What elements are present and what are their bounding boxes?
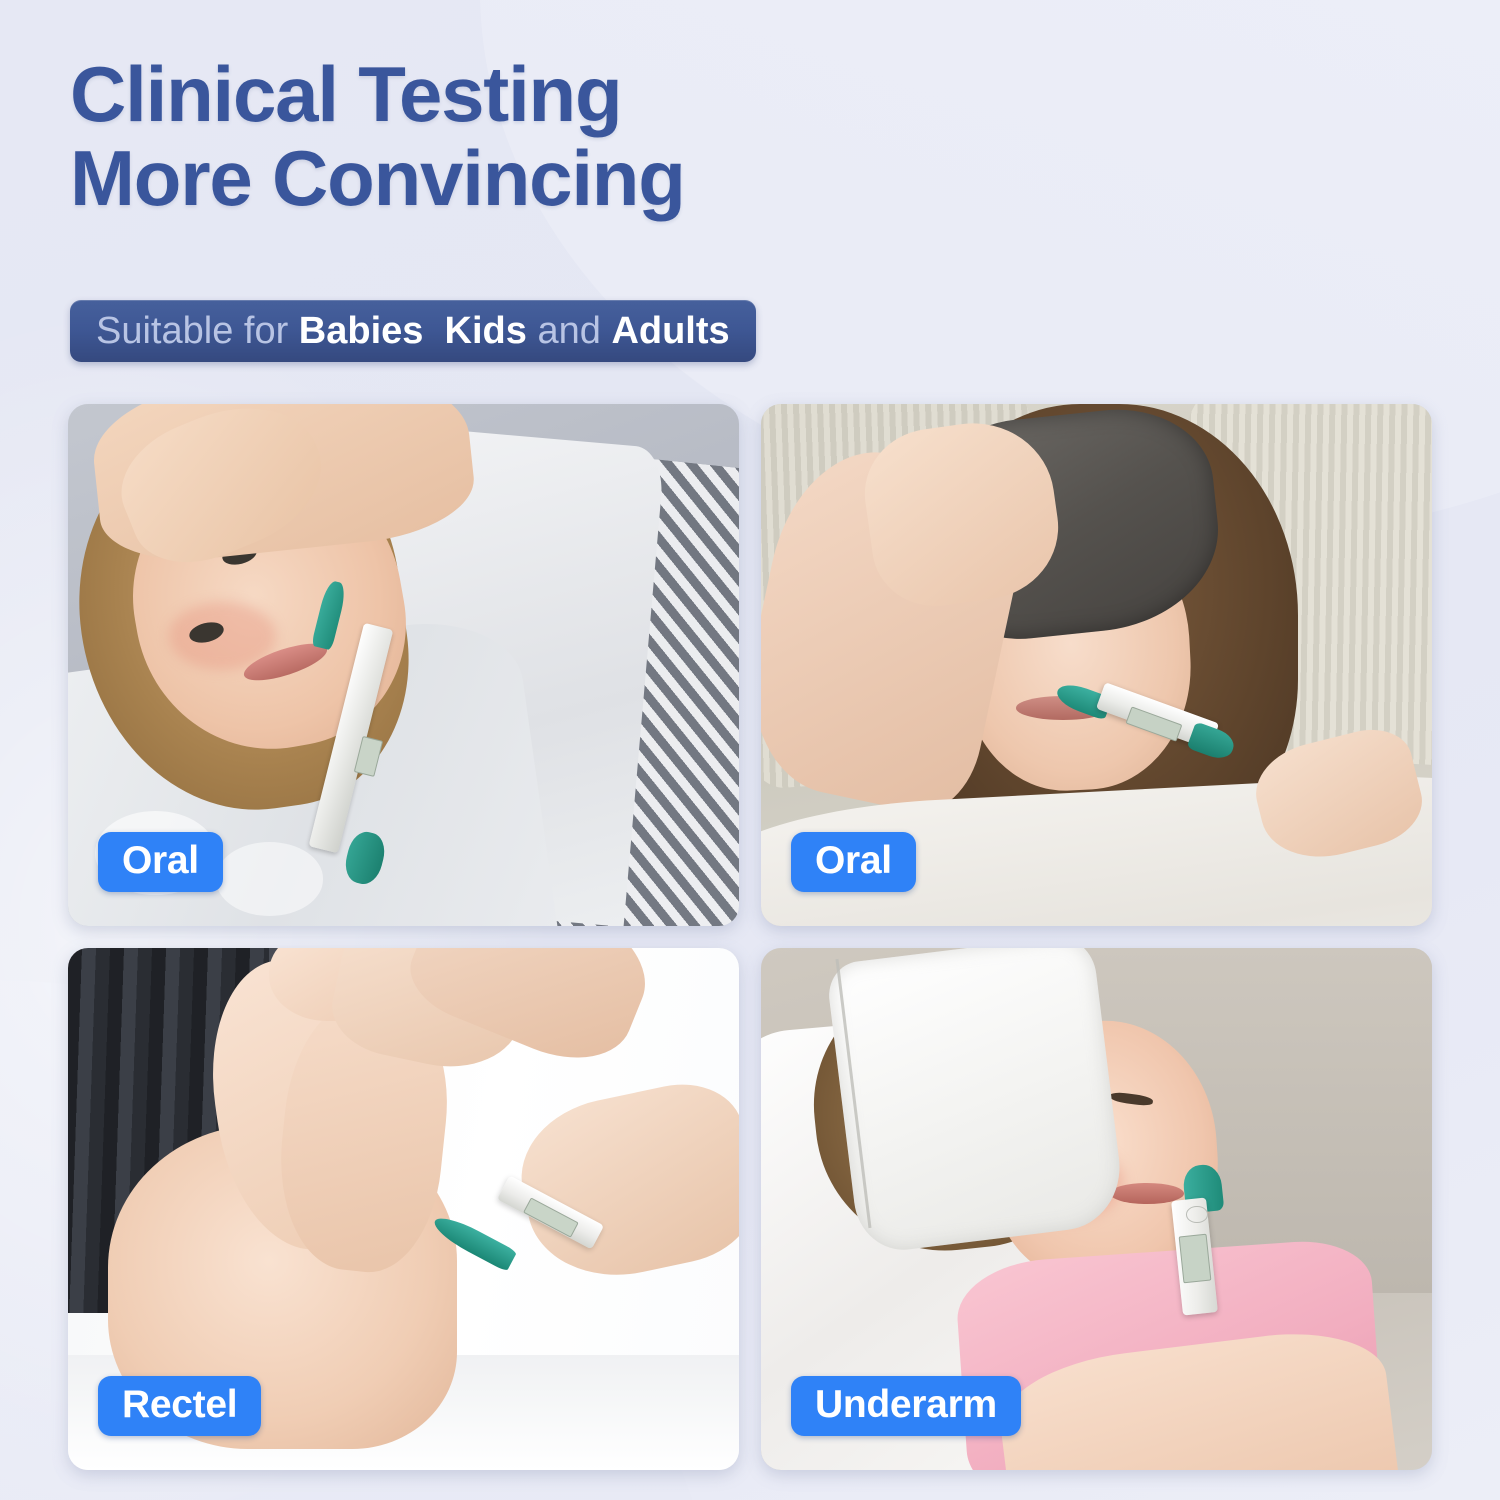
title-line-1: Clinical Testing bbox=[70, 52, 1030, 136]
infographic-poster: Clinical Testing More Convincing Suitabl… bbox=[0, 0, 1500, 1500]
label-pill-underarm: Underarm bbox=[791, 1376, 1021, 1436]
banner-separator bbox=[423, 312, 444, 350]
banner-audience-babies: Babies bbox=[299, 312, 424, 350]
banner-prefix: Suitable for bbox=[96, 312, 299, 350]
card-oral-child[interactable]: Oral bbox=[68, 404, 739, 926]
banner-audience-kids: Kids bbox=[445, 312, 527, 350]
card-underarm-child[interactable]: Underarm bbox=[761, 948, 1432, 1470]
usage-gallery: Oral Oral bbox=[68, 404, 1432, 1470]
banner-conjunction: and bbox=[527, 312, 612, 350]
title-line-2: More Convincing bbox=[70, 136, 1030, 220]
page-title: Clinical Testing More Convincing bbox=[70, 52, 1030, 220]
banner-audience-adults: Adults bbox=[611, 312, 729, 350]
audience-banner: Suitable for Babies Kids and Adults bbox=[70, 300, 756, 362]
label-pill-oral-adult: Oral bbox=[791, 832, 916, 892]
label-pill-rectal: Rectel bbox=[98, 1376, 261, 1436]
label-pill-oral-child: Oral bbox=[98, 832, 223, 892]
card-rectal-baby[interactable]: Rectel bbox=[68, 948, 739, 1470]
card-oral-adult[interactable]: Oral bbox=[761, 404, 1432, 926]
